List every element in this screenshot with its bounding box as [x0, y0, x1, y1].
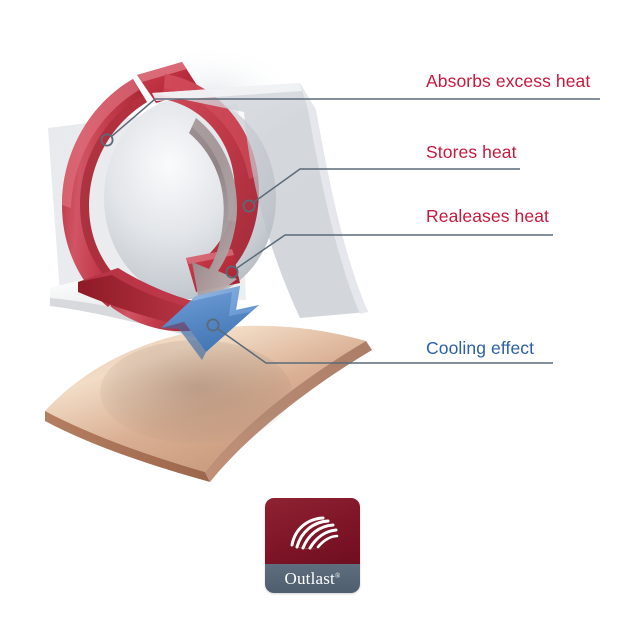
registered-trademark-mark: ® — [335, 572, 341, 580]
logo-wordmark-text: Outlast — [284, 569, 335, 588]
label-stores-heat: Stores heat — [426, 142, 517, 163]
logo-bottom-panel: Outlast® — [265, 564, 360, 593]
outlast-logo: Outlast® — [265, 498, 360, 593]
label-absorbs-excess-heat: Absorbs excess heat — [426, 71, 590, 92]
logo-wordmark: Outlast® — [284, 570, 340, 587]
label-releases-heat: Realeases heat — [426, 206, 549, 227]
label-cooling-effect: Cooling effect — [426, 338, 534, 359]
outlast-shell-swoosh-icon — [287, 515, 339, 551]
diagram-canvas: Absorbs excess heat Stores heat Realease… — [0, 0, 625, 625]
